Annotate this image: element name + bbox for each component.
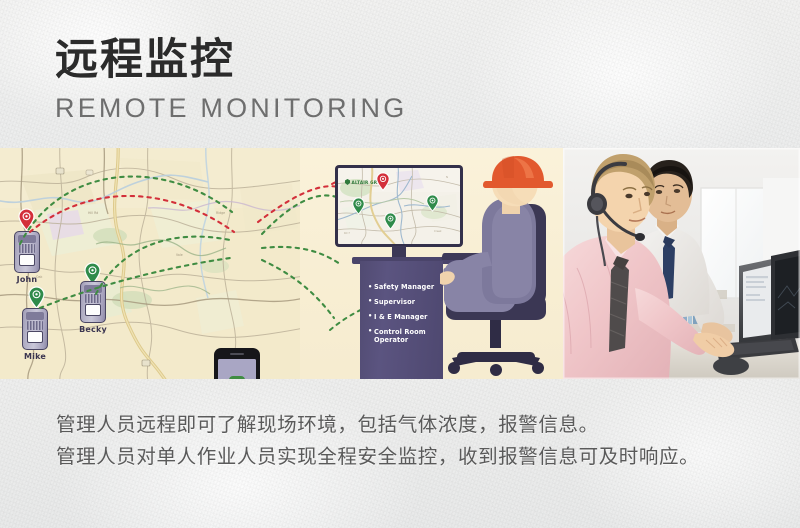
role-item: Control Room Operator [368,328,442,345]
phone-detector-top [229,376,246,379]
seated-operator-figure [440,156,563,379]
control-room-scene: Rd 7 Creek N ALTAIR GRID [330,148,563,379]
page-root: 远程监控 REMOTE MONITORING [0,0,800,528]
phone-screen [218,359,256,379]
description-line-2: 管理人员对单人作业人员实现全程安全监控，收到报警信息可及时响应。 [56,441,756,473]
gas-detector-becky [80,281,106,323]
monitoring-roles-list: Safety Manager Supervisor I & E Manager … [368,283,442,351]
role-item: Safety Manager [368,283,442,291]
svg-text:Hill Rd: Hill Rd [88,211,98,215]
map-pin-alarm-john[interactable] [18,208,35,231]
remote-monitoring-illustration: Hill Rd Vale Oak Ridge [0,148,563,379]
role-item: Supervisor [368,298,442,306]
page-title-cn: 远程监控 [55,34,407,86]
control-room-photo [563,148,800,379]
svg-text:Vale: Vale [176,253,183,257]
desk-front-panel: Safety Manager Supervisor I & E Manager … [360,261,443,379]
monitor-pin-normal-2[interactable] [384,212,397,230]
description-line-1: 管理人员远程即可了解现场环境，包括气体浓度，报警信息。 [56,409,756,441]
svg-text:Ridge: Ridge [216,211,225,215]
monitor-pin-normal-1[interactable] [352,197,365,215]
map-worker-label-becky: Becky [70,325,116,334]
svg-text:Rd 7: Rd 7 [344,231,350,235]
map-pin-normal-mike[interactable] [28,286,45,309]
page-title-en: REMOTE MONITORING [55,92,407,124]
gas-detector-john [14,231,40,273]
monitor-pin-normal-3[interactable] [426,194,439,212]
description-copy: 管理人员远程即可了解现场环境，包括气体浓度，报警信息。 管理人员对单人作业人员实… [56,409,756,473]
role-item: I & E Manager [368,313,442,321]
control-room-photo-graphic [563,148,800,379]
map-worker-label-john: John [4,275,50,284]
altair-connect-phone[interactable] [214,348,260,379]
field-map: Hill Rd Vale Oak Ridge [0,148,300,379]
phone-speaker [230,353,245,355]
page-heading: 远程监控 REMOTE MONITORING [55,34,407,124]
monitor-pin-alarm[interactable] [376,172,390,191]
map-worker-label-mike: Mike [12,352,58,361]
gas-detector-mike [22,308,48,350]
altair-grid-mark-icon [345,179,350,185]
media-band: Hill Rd Vale Oak Ridge [0,148,800,379]
